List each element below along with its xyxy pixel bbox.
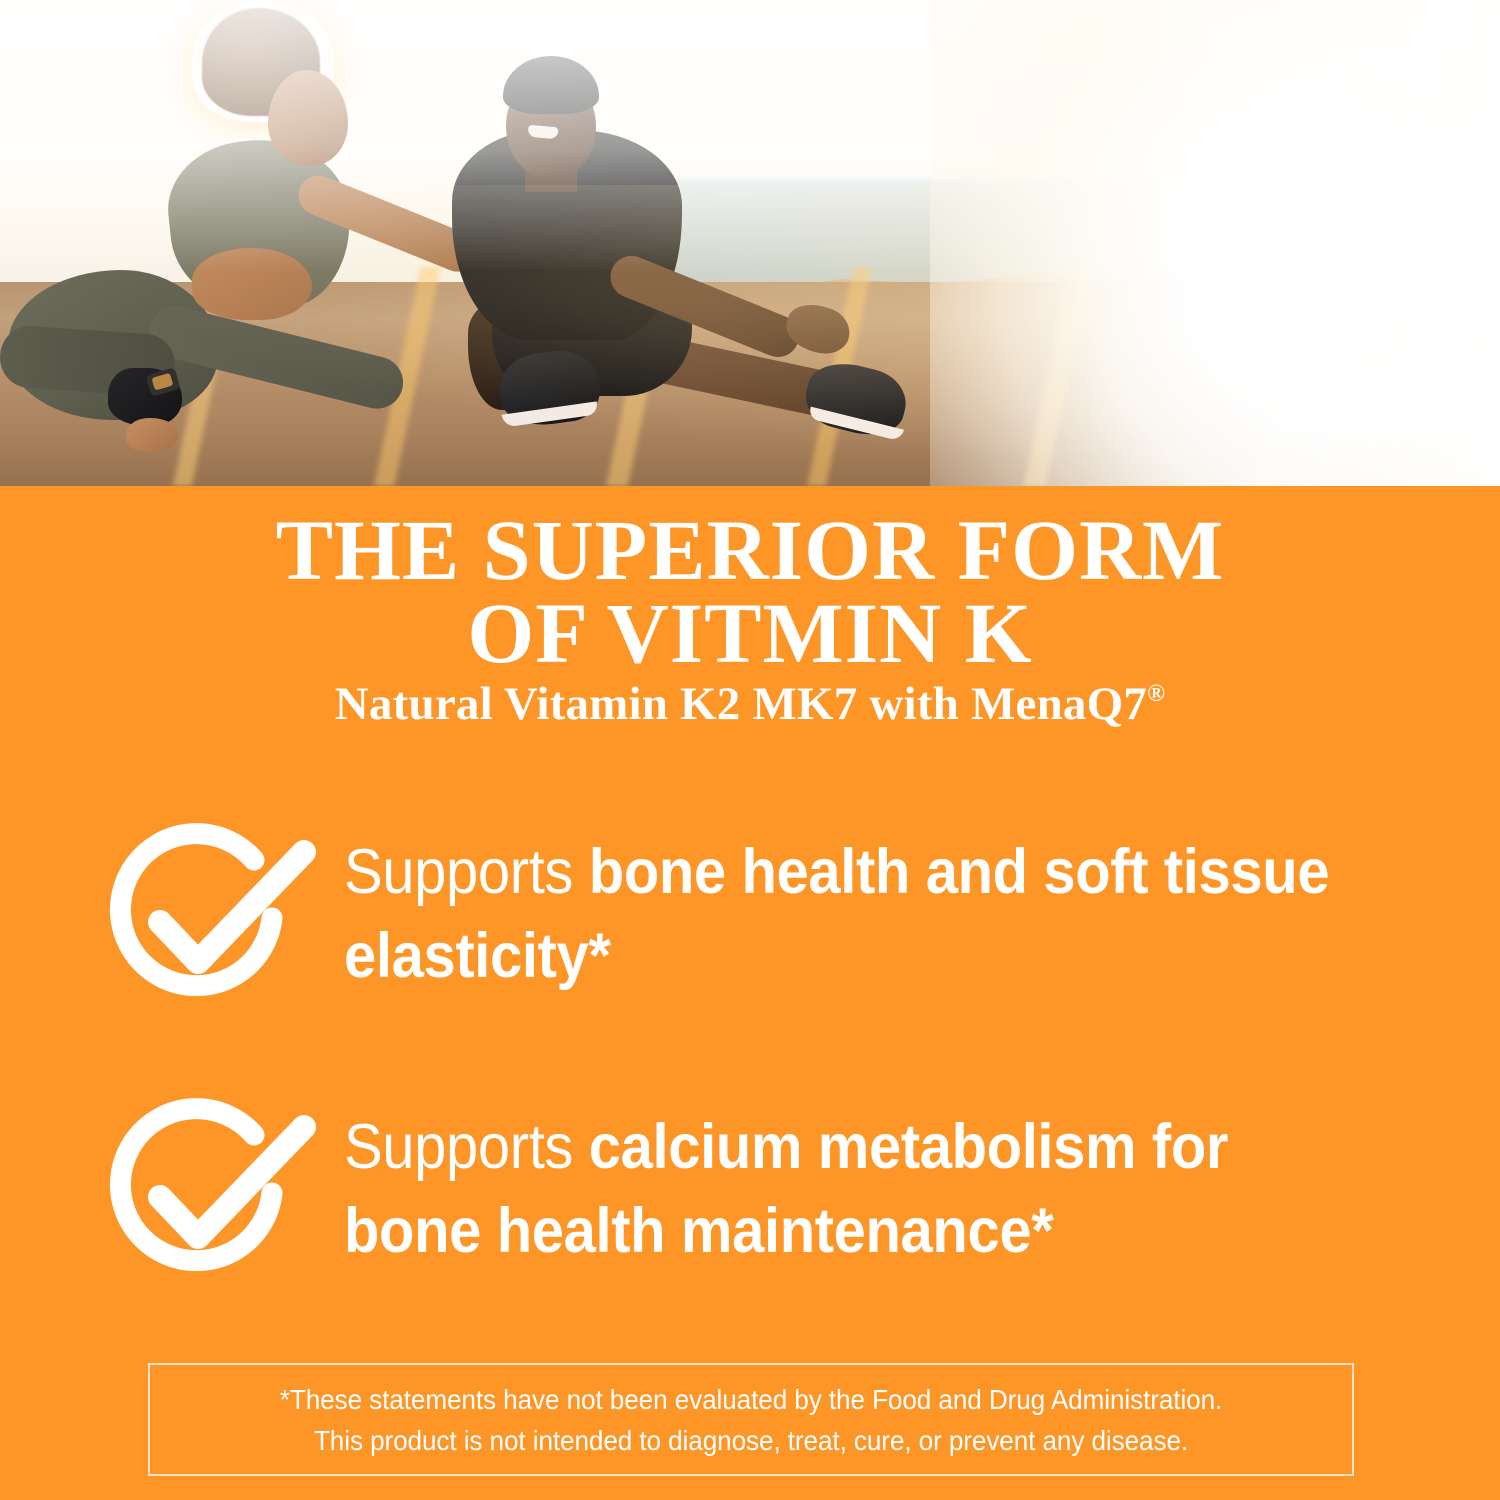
disclaimer-box: *These statements have not been evaluate… [148, 1363, 1354, 1476]
benefit-item-1: Supports bone health and soft tissue ela… [104, 820, 1434, 1008]
benefit-text-1: Supports bone health and soft tissue ela… [344, 820, 1347, 998]
check-circle-icon [104, 1097, 318, 1283]
benefit-item-2: Supports calcium metabolism for bone hea… [104, 1095, 1434, 1283]
benefit-lead-2: Supports [344, 1112, 589, 1182]
subtitle-text: Natural Vitamin K2 MK7 with MenaQ7 [335, 678, 1147, 730]
page-title: THE SUPERIOR FORM OF VITMIN K [0, 509, 1500, 675]
benefit-asterisk-1: * [588, 921, 610, 991]
lens-flare-wash [1080, 0, 1500, 486]
check-circle-icon [104, 822, 318, 1008]
benefit-lead-1: Supports [344, 837, 589, 907]
hero-photo [0, 0, 1500, 486]
registered-trademark-symbol: ® [1147, 681, 1165, 707]
disclaimer-text: *These statements have not been evaluate… [280, 1379, 1222, 1461]
benefit-text-2: Supports calcium metabolism for bone hea… [344, 1095, 1347, 1273]
product-banner: THE SUPERIOR FORM OF VITMIN K Natural Vi… [0, 0, 1500, 1500]
page-subtitle: Natural Vitamin K2 MK7 with MenaQ7® [0, 677, 1500, 731]
content-panel: THE SUPERIOR FORM OF VITMIN K Natural Vi… [0, 486, 1500, 1500]
benefit-asterisk-2: * [1031, 1196, 1053, 1266]
